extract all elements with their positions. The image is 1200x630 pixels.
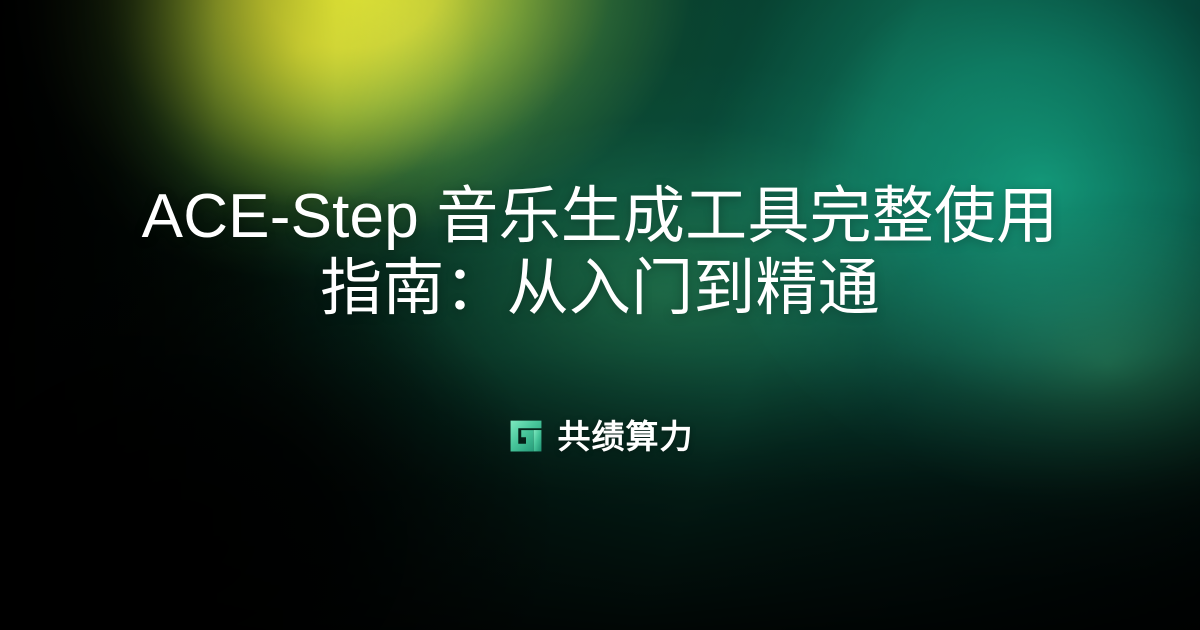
card-content: ACE-Step 音乐生成工具完整使用 指南：从入门到精通 共绩算力 xyxy=(0,0,1200,630)
og-card: ACE-Step 音乐生成工具完整使用 指南：从入门到精通 共绩算力 xyxy=(0,0,1200,630)
brand-lockup: 共绩算力 xyxy=(507,417,694,455)
page-title-line-1: ACE-Step 音乐生成工具完整使用 xyxy=(110,181,1090,253)
gongji-g-logo-icon xyxy=(507,417,545,455)
page-title-line-2: 指南：从入门到精通 xyxy=(110,253,1090,325)
page-title: ACE-Step 音乐生成工具完整使用 指南：从入门到精通 xyxy=(110,181,1090,325)
brand-name: 共绩算力 xyxy=(558,420,694,453)
